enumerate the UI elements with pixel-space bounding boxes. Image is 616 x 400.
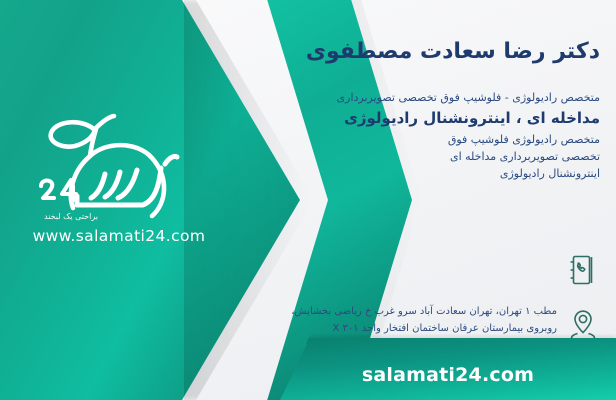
doctor-name: دکتر رضا سعادت مصطفوی: [282, 38, 600, 67]
phone-row[interactable]: [280, 250, 600, 290]
logo-tagline: براحتی یک لبخند: [14, 212, 190, 221]
brand-logo: براحتی یک لبخند www.salamati24.com: [14, 108, 224, 245]
salamati-apple-logo-icon: [19, 108, 219, 228]
address-line-1: مطب ۱ تهران، تهران سعادت آباد سرو غرب خ …: [280, 304, 557, 321]
logo-url[interactable]: www.salamati24.com: [14, 227, 224, 245]
business-card: براحتی یک لبخند www.salamati24.com دکتر …: [0, 0, 616, 400]
specialty-line-primary: مداخله ای ، اینترونشنال رادیولوژی: [282, 107, 600, 130]
card-content: دکتر رضا سعادت مصطفوی متخصص رادیولوژی - …: [282, 0, 600, 182]
specialty-line: متخصص رادیولوژی - فلوشیپ فوق تخصصی تصویر…: [282, 89, 600, 106]
phone-book-icon: [566, 250, 600, 290]
specialty-block: متخصص رادیولوژی - فلوشیپ فوق تخصصی تصویر…: [282, 89, 600, 183]
specialty-line: متخصص رادیولوژی فلوشیپ فوق: [282, 131, 600, 148]
footer-brand[interactable]: salamati24.com: [0, 364, 616, 386]
specialty-line: تخصصی تصویربرداری مداخله ای: [282, 148, 600, 165]
address-text: مطب ۱ تهران، تهران سعادت آباد سرو غرب خ …: [280, 304, 557, 337]
specialty-line: اینترونشنال رادیولوژی: [282, 165, 600, 182]
